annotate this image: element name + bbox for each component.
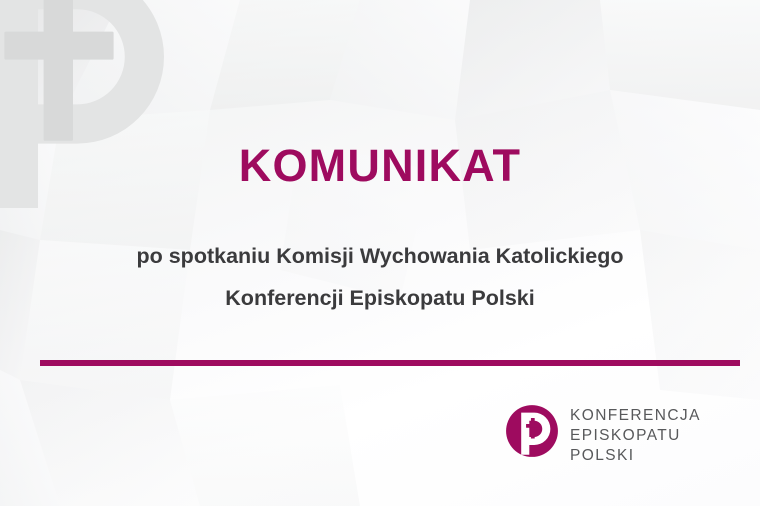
logo-wordmark-line-3: POLSKI [570,446,701,466]
subtitle-block: po spotkaniu Komisji Wychowania Katolick… [0,236,760,320]
horizontal-divider [40,360,740,366]
subtitle-line-1: po spotkaniu Komisji Wychowania Katolick… [0,236,760,278]
konferencja-episkopatu-polski-logo: KONFERENCJA EPISKOPATU POLSKI [505,403,701,465]
logo-wordmark-line-2: EPISKOPATU [570,426,701,446]
komunikat-banner: KOMUNIKAT po spotkaniu Komisji Wychowani… [0,0,760,506]
logo-wordmark: KONFERENCJA EPISKOPATU POLSKI [570,403,701,465]
episkopat-emblem-icon [505,404,559,458]
subtitle-line-2: Konferencji Episkopatu Polski [0,278,760,320]
logo-wordmark-line-1: KONFERENCJA [570,406,701,426]
page-title: KOMUNIKAT [0,142,760,189]
